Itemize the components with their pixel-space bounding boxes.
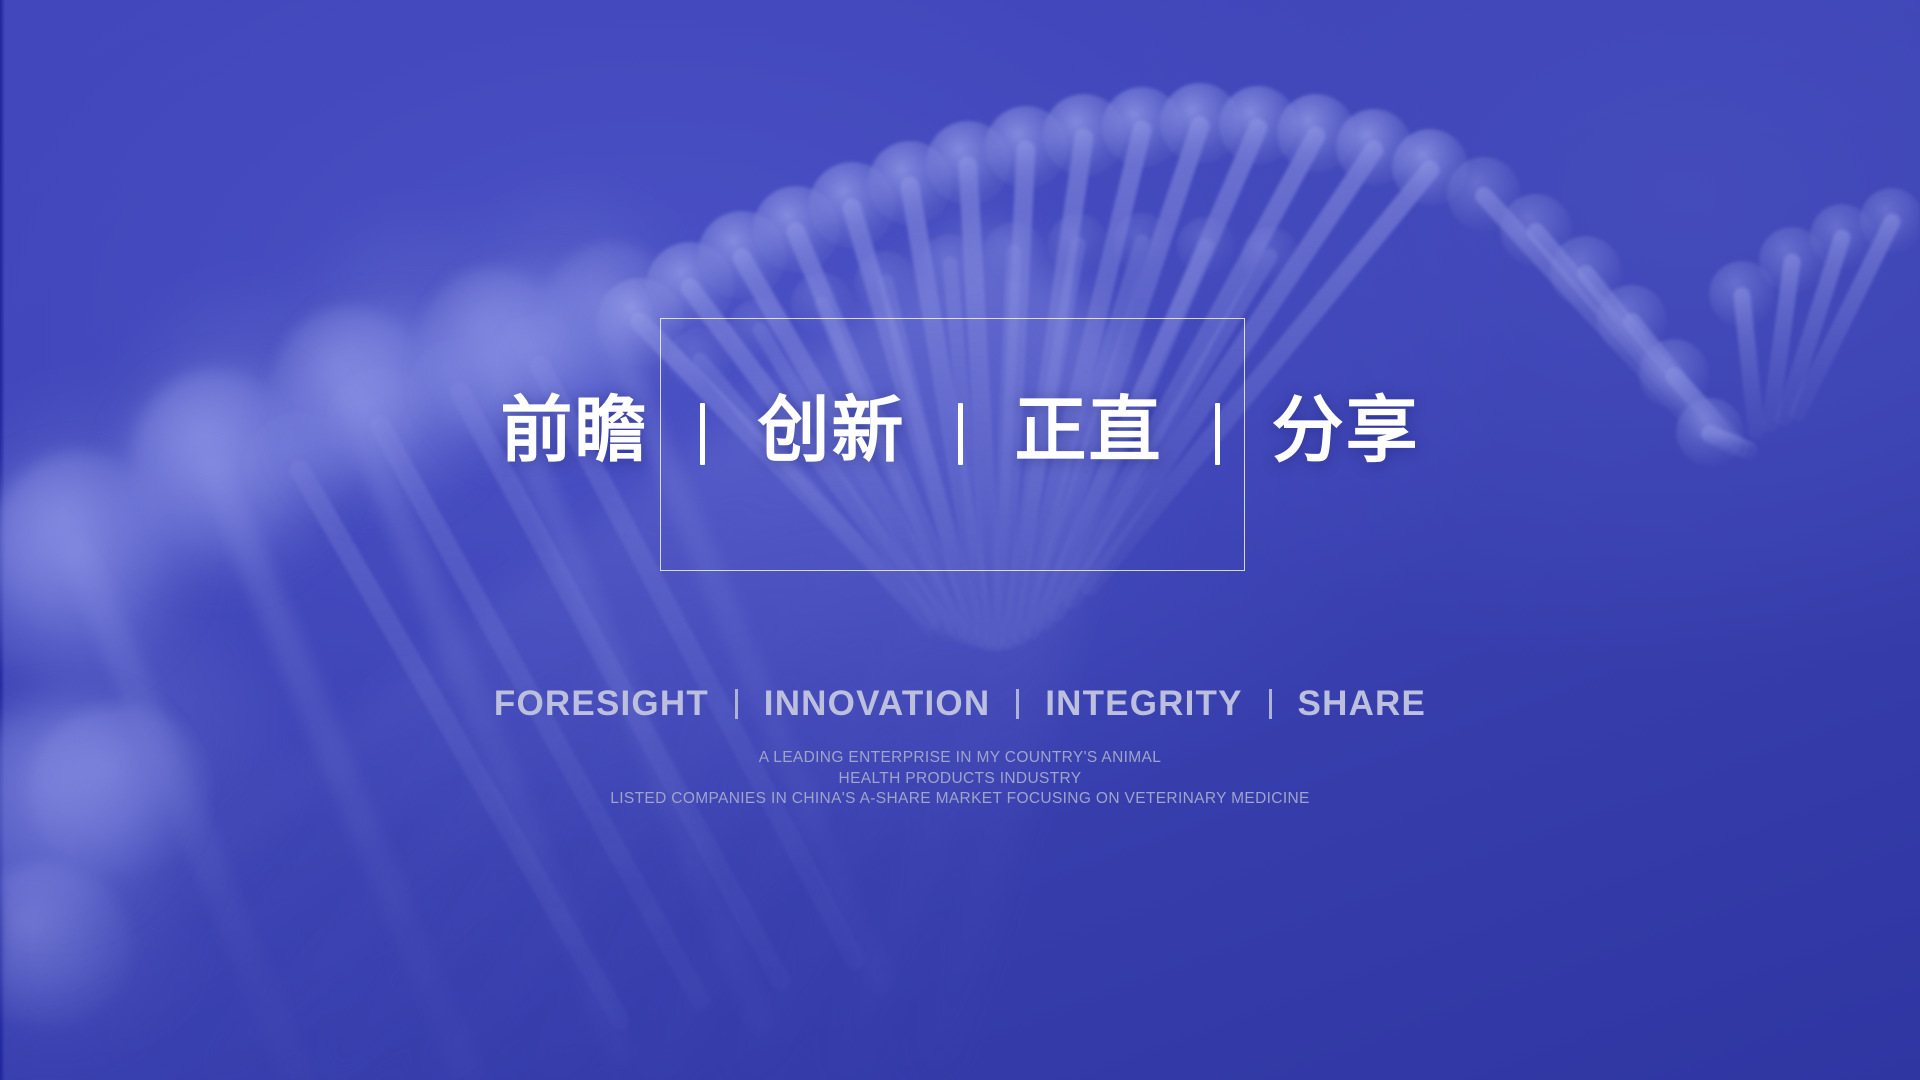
company-description: A LEADING ENTERPRISE IN MY COUNTRY'S ANI… [0, 748, 1920, 810]
headline-separator [1215, 403, 1220, 465]
subtitle-word-share: SHARE [1298, 686, 1427, 721]
values-banner: 前瞻 创新 正直 分享 FORESIGHT INNOVATION INTEGRI… [0, 0, 1920, 1080]
value-word-innovation: 创新 [757, 395, 905, 467]
subtitle-word-innovation: INNOVATION [764, 686, 991, 721]
page-title: 前瞻 创新 正直 分享 [0, 395, 1920, 467]
page-subtitle: FORESIGHT INNOVATION INTEGRITY SHARE [0, 686, 1920, 721]
subtitle-separator [735, 689, 738, 719]
banner-content: 前瞻 创新 正直 分享 FORESIGHT INNOVATION INTEGRI… [0, 0, 1920, 1080]
headline-separator [958, 403, 963, 465]
description-line-2: HEALTH PRODUCTS INDUSTRY [0, 769, 1920, 790]
subtitle-word-foresight: FORESIGHT [494, 686, 709, 721]
value-word-share: 分享 [1272, 395, 1420, 467]
description-line-3: LISTED COMPANIES IN CHINA'S A-SHARE MARK… [0, 789, 1920, 810]
subtitle-separator [1269, 689, 1272, 719]
subtitle-word-integrity: INTEGRITY [1045, 686, 1242, 721]
value-word-integrity: 正直 [1015, 395, 1163, 467]
value-word-foresight: 前瞻 [500, 395, 648, 467]
headline-separator [700, 403, 705, 465]
subtitle-separator [1016, 689, 1019, 719]
description-line-1: A LEADING ENTERPRISE IN MY COUNTRY'S ANI… [0, 748, 1920, 769]
